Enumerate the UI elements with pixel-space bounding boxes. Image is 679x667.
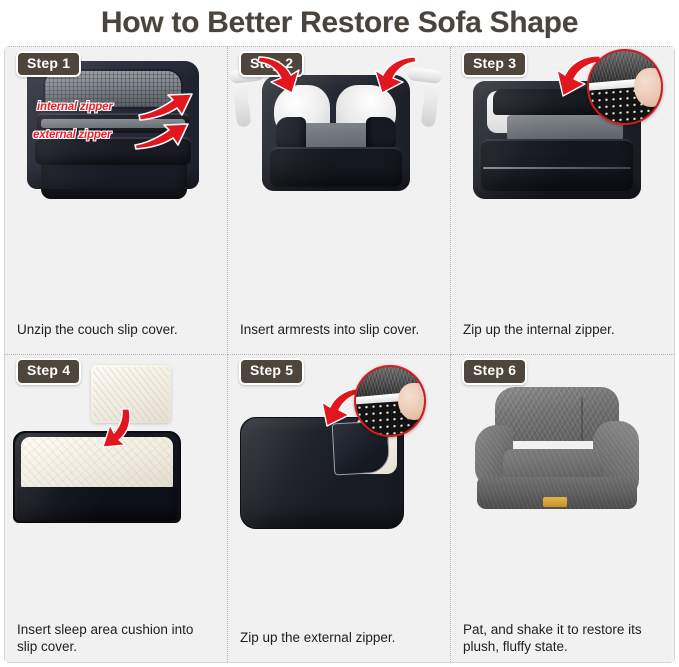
- steps-grid: Step 1 internal zipper external zipper: [4, 46, 675, 663]
- step-badge-6: Step 6: [462, 358, 527, 384]
- page-title: How to Better Restore Sofa Shape: [101, 6, 578, 40]
- red-arrow-icon: [133, 119, 191, 149]
- backrest-seam-graphic: [581, 397, 583, 441]
- title-bar: How to Better Restore Sofa Shape: [0, 0, 679, 46]
- closeup-inset-nonslip: [354, 365, 426, 437]
- step-caption-4: Insert sleep area cushion into slip cove…: [5, 616, 227, 662]
- external-zipper-label: external zipper: [33, 129, 111, 141]
- red-arrow-icon: [372, 53, 418, 95]
- step-panel-4: Step 4 Insert slee: [5, 355, 228, 663]
- step-panel-2: Step 2: [228, 47, 451, 355]
- step-panel-6: Step 6 Pat, and shake it to: [451, 355, 674, 663]
- closeup-inset-nonslip: [587, 49, 663, 125]
- slip-cover-bag-graphic: [13, 431, 181, 523]
- step-badge-1: Step 1: [16, 51, 81, 77]
- brand-tag-graphic: [543, 497, 567, 507]
- step-badge-5: Step 5: [239, 358, 304, 384]
- step-illustration-2: [228, 47, 450, 308]
- step-caption-5: Zip up the external zipper.: [228, 616, 450, 662]
- red-arrow-icon: [256, 53, 302, 95]
- step-illustration-6: [451, 355, 674, 617]
- step-panel-5: Step 5: [228, 355, 451, 663]
- step-illustration-5: [228, 355, 450, 617]
- step-badge-row-1: Step 1: [5, 47, 227, 81]
- step-badge-row-4: Step 4: [5, 355, 227, 389]
- red-arrow-icon: [137, 91, 195, 121]
- cover-arm-left-graphic: [276, 117, 306, 151]
- step-badge-4: Step 4: [16, 358, 81, 384]
- infographic-root: How to Better Restore Sofa Shape Step 1: [0, 0, 679, 667]
- hand-graphic: [398, 383, 426, 420]
- step-badge-3: Step 3: [462, 51, 527, 77]
- bag-lower-panel-graphic: [41, 165, 187, 199]
- step-caption-3: Zip up the internal zipper.: [451, 308, 674, 354]
- step-caption-2: Insert armrests into slip cover.: [228, 308, 450, 354]
- red-arrow-icon: [101, 407, 135, 449]
- step-panel-1: Step 1 internal zipper external zipper: [5, 47, 228, 355]
- bag-front-panel-graphic: [270, 147, 402, 187]
- sherpa-lining-graphic: [21, 437, 173, 489]
- step-badge-row-6: Step 6: [451, 355, 674, 389]
- step-panel-3: Step 3: [451, 47, 674, 355]
- step-illustration-4: [5, 355, 227, 617]
- bag-front-panel-graphic: [17, 487, 177, 521]
- internal-zipper-label: internal zipper: [37, 101, 113, 113]
- step-illustration-3: [451, 47, 674, 308]
- finished-pet-sofa-graphic: [471, 381, 647, 521]
- zipper-line-graphic: [483, 167, 631, 169]
- step-illustration-1: internal zipper external zipper: [5, 47, 227, 308]
- step-caption-1: Unzip the couch slip cover.: [5, 308, 227, 354]
- bag-front-panel-graphic: [481, 139, 633, 191]
- step-caption-6: Pat, and shake it to restore its plush, …: [451, 616, 674, 662]
- cover-arm-right-graphic: [366, 117, 396, 151]
